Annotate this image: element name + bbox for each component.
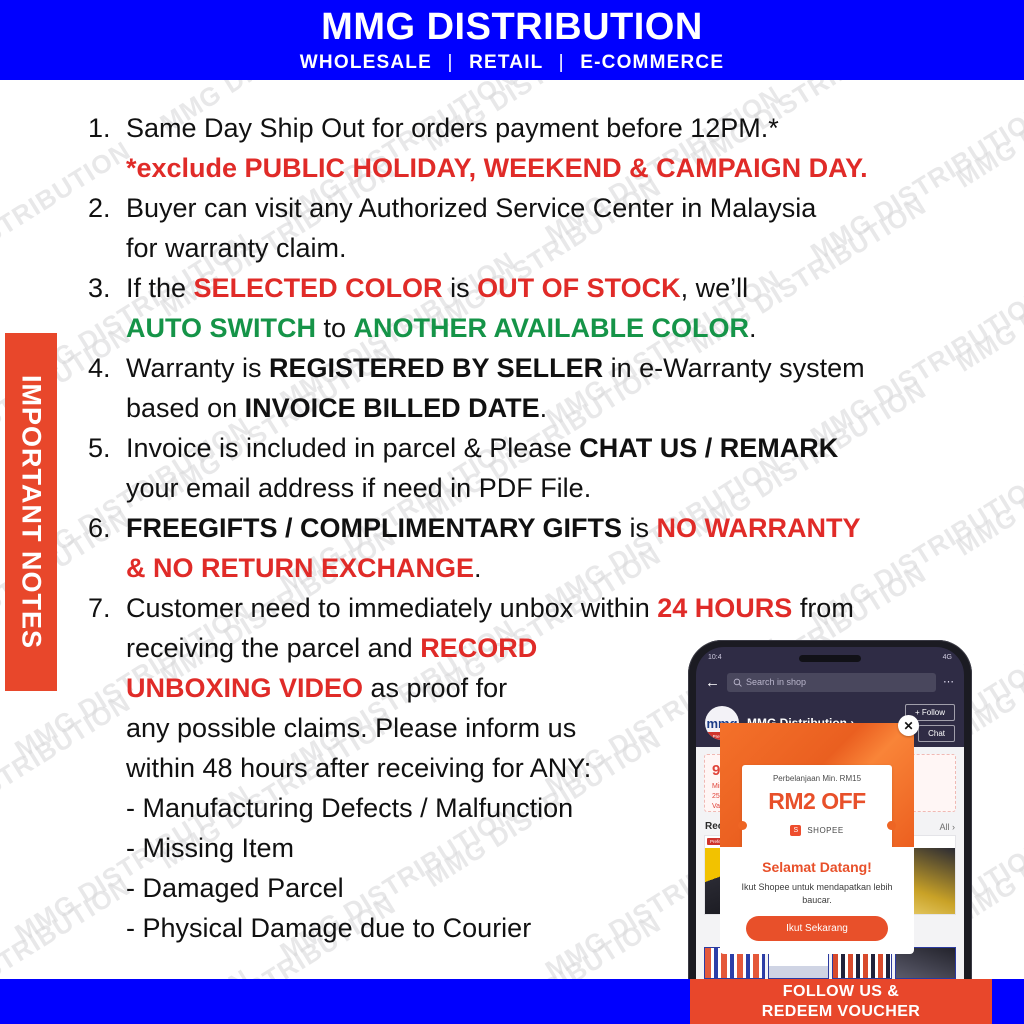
note-segment: AUTO SWITCH — [126, 313, 316, 343]
note-segment: to — [316, 313, 354, 343]
note-segment: Buyer can visit any Authorized Service C… — [126, 193, 816, 223]
note-segment: from — [792, 593, 854, 623]
note-segment: SELECTED COLOR — [194, 273, 443, 303]
note-line: Warranty is REGISTERED BY SELLER in e-Wa… — [126, 348, 958, 388]
header-sep-2: | — [550, 53, 574, 72]
note-text: If the SELECTED COLOR is OUT OF STOCK, w… — [126, 268, 958, 348]
coupon-notch-right — [887, 821, 896, 830]
note-segment: & NO RETURN EXCHANGE — [126, 553, 474, 583]
note-text: Warranty is REGISTERED BY SELLER in e-Wa… — [126, 348, 958, 428]
status-time: 10:4 — [708, 654, 722, 661]
chat-button[interactable]: Chat — [918, 725, 955, 742]
note-segment: - Missing Item — [126, 833, 294, 863]
header-sub-retail: RETAIL — [469, 52, 543, 73]
note-segment: If the — [126, 273, 194, 303]
phone-frame: 10:4 4G ← Search in shop ⋯ — [688, 640, 972, 985]
note-segment: . — [540, 393, 548, 423]
note-segment: - Damaged Parcel — [126, 873, 344, 903]
search-icon — [733, 678, 742, 687]
coupon-brand-name: SHOPEE — [807, 826, 843, 835]
note-segment: is — [443, 273, 478, 303]
note-segment: Customer need to immediately unbox withi… — [126, 593, 657, 623]
header-sub-wholesale: WHOLESALE — [300, 52, 432, 73]
note-text: FREEGIFTS / COMPLIMENTARY GIFTS is NO WA… — [126, 508, 958, 588]
note-segment: for warranty claim. — [126, 233, 347, 263]
note-line: Buyer can visit any Authorized Service C… — [126, 188, 958, 228]
note-number: 6. — [88, 508, 126, 548]
header-sub-ecommerce: E-COMMERCE — [580, 52, 724, 73]
note-segment: NO WARRANTY — [657, 513, 861, 543]
note-segment: Invoice is included in parcel & Please — [126, 433, 579, 463]
note-line: Customer need to immediately unbox withi… — [126, 588, 958, 628]
note-line: for warranty claim. — [126, 228, 958, 268]
note-text: Buyer can visit any Authorized Service C… — [126, 188, 958, 268]
shop-topbar: ← Search in shop ⋯ — [696, 667, 964, 697]
note-item: 6.FREEGIFTS / COMPLIMENTARY GIFTS is NO … — [88, 508, 958, 588]
note-item: 5.Invoice is included in parcel & Please… — [88, 428, 958, 508]
coupon-notch-left — [738, 821, 747, 830]
promo-banner-page: MMG DISTRIBUTION MMG DISTRIBUTION MMG DI… — [0, 0, 1024, 1024]
coupon-brand-row: S SHOPEE — [790, 825, 843, 836]
back-arrow-icon[interactable]: ← — [705, 675, 720, 690]
note-number: 1. — [88, 108, 126, 148]
shopee-icon: S — [790, 825, 801, 836]
footer-line-1: FOLLOW US & — [783, 982, 899, 1002]
voucher-popup-top: Perbelanjaan Min. RM15 RM2 OFF S SHOPEE — [720, 723, 914, 847]
note-number: 4. — [88, 348, 126, 388]
note-line: your email address if need in PDF File. — [126, 468, 958, 508]
note-text: Same Day Ship Out for orders payment bef… — [126, 108, 958, 188]
note-segment: *exclude PUBLIC HOLIDAY, WEEKEND & CAMPA… — [126, 153, 868, 183]
more-options-icon[interactable]: ⋯ — [943, 677, 955, 688]
note-item: 3.If the SELECTED COLOR is OUT OF STOCK,… — [88, 268, 958, 348]
phone-screen: 10:4 4G ← Search in shop ⋯ — [696, 647, 964, 985]
close-icon[interactable]: ✕ — [898, 715, 919, 736]
phone-notch — [799, 655, 861, 662]
note-segment: . — [749, 313, 757, 343]
note-segment: within 48 hours after receiving for ANY: — [126, 753, 591, 783]
coupon-min-spend: Perbelanjaan Min. RM15 — [773, 774, 861, 783]
note-number: 5. — [88, 428, 126, 468]
important-notes-label: IMPORTANT NOTES — [16, 375, 47, 649]
note-number: 3. — [88, 268, 126, 308]
recommended-all-link[interactable]: All › — [940, 822, 956, 832]
note-segment: - Manufacturing Defects / Malfunction — [126, 793, 573, 823]
note-segment: any possible claims. Please inform us — [126, 713, 576, 743]
note-segment: CHAT US / REMARK — [579, 433, 838, 463]
header-subtitle: WHOLESALE | RETAIL | E-COMMERCE — [300, 53, 724, 72]
footer-line-2: REDEEM VOUCHER — [762, 1002, 921, 1022]
important-notes-tab: IMPORTANT NOTES — [5, 333, 57, 691]
note-segment: ANOTHER AVAILABLE COLOR — [354, 313, 749, 343]
popup-description: Ikut Shopee untuk mendapatkan lebih bauc… — [737, 881, 897, 907]
note-segment: . — [474, 553, 482, 583]
coupon-amount: RM2 OFF — [768, 788, 865, 815]
note-segment: FREEGIFTS / COMPLIMENTARY GIFTS — [126, 513, 622, 543]
voucher-popup-bottom: Selamat Datang! Ikut Shopee untuk mendap… — [720, 847, 914, 954]
note-segment: as proof for — [363, 673, 507, 703]
phone-mockup: 10:4 4G ← Search in shop ⋯ — [688, 640, 972, 985]
note-segment: your email address if need in PDF File. — [126, 473, 591, 503]
note-line: FREEGIFTS / COMPLIMENTARY GIFTS is NO WA… — [126, 508, 958, 548]
note-segment: , we’ll — [681, 273, 749, 303]
search-placeholder-text: Search in shop — [746, 677, 806, 687]
note-segment: Warranty is — [126, 353, 269, 383]
note-segment: based on — [126, 393, 245, 423]
note-line: AUTO SWITCH to ANOTHER AVAILABLE COLOR. — [126, 308, 958, 348]
follow-redeem-panel: FOLLOW US & REDEEM VOUCHER — [690, 979, 992, 1024]
note-item: 4.Warranty is REGISTERED BY SELLER in e-… — [88, 348, 958, 428]
note-segment: UNBOXING VIDEO — [126, 673, 363, 703]
note-segment: - Physical Damage due to Courier — [126, 913, 531, 943]
note-line: *exclude PUBLIC HOLIDAY, WEEKEND & CAMPA… — [126, 148, 958, 188]
page-title: MMG DISTRIBUTION — [321, 8, 703, 46]
note-number: 2. — [88, 188, 126, 228]
note-segment: receiving the parcel and — [126, 633, 420, 663]
note-segment: RECORD — [420, 633, 537, 663]
note-number: 7. — [88, 588, 126, 628]
header-sep-1: | — [438, 53, 462, 72]
note-segment: Same Day Ship Out for orders payment bef… — [126, 113, 779, 143]
note-line: based on INVOICE BILLED DATE. — [126, 388, 958, 428]
note-line: & NO RETURN EXCHANGE. — [126, 548, 958, 588]
note-item: 1.Same Day Ship Out for orders payment b… — [88, 108, 958, 188]
note-item: 2.Buyer can visit any Authorized Service… — [88, 188, 958, 268]
note-segment: 24 HOURS — [657, 593, 792, 623]
search-input[interactable]: Search in shop — [727, 673, 936, 692]
note-segment: REGISTERED BY SELLER — [269, 353, 603, 383]
note-segment: INVOICE BILLED DATE — [245, 393, 540, 423]
note-line: If the SELECTED COLOR is OUT OF STOCK, w… — [126, 268, 958, 308]
note-line: Same Day Ship Out for orders payment bef… — [126, 108, 958, 148]
note-text: Invoice is included in parcel & Please C… — [126, 428, 958, 508]
note-segment: OUT OF STOCK — [477, 273, 681, 303]
note-segment: is — [622, 513, 657, 543]
popup-follow-now-button[interactable]: Ikut Sekarang — [746, 916, 888, 941]
status-network: 4G — [943, 654, 952, 661]
note-line: Invoice is included in parcel & Please C… — [126, 428, 958, 468]
page-header: MMG DISTRIBUTION WHOLESALE | RETAIL | E-… — [0, 0, 1024, 80]
note-segment: in e-Warranty system — [603, 353, 865, 383]
popup-greeting: Selamat Datang! — [762, 859, 872, 875]
